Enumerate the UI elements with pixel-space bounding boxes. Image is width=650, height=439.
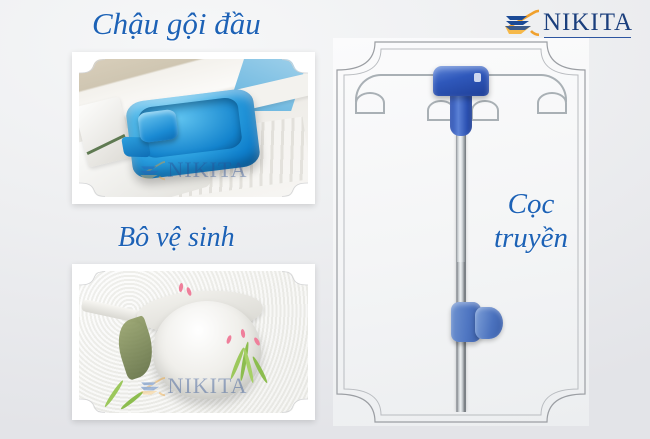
caption-pole: Cọc truyền xyxy=(476,187,586,255)
photo-bedpan: NIKITA xyxy=(79,271,308,413)
brand-wordmark: NIKITA xyxy=(543,10,633,35)
caption-pole-line2: truyền xyxy=(476,221,586,255)
brand-name-text: NIKITA xyxy=(543,9,633,36)
photo-basin: NIKITA xyxy=(79,59,308,197)
photo-frame-bedpan: NIKITA xyxy=(72,264,315,420)
nikita-swoosh-logo-icon xyxy=(503,7,539,37)
photo-frame-basin: NIKITA xyxy=(72,52,315,204)
caption-bedpan: Bô vệ sinh xyxy=(118,222,235,254)
bedpan-scene: NIKITA xyxy=(79,271,308,413)
basin-drain-plug xyxy=(137,109,178,143)
product-infographic: NIKITA Chậu gội đầu xyxy=(0,0,650,439)
basin-scene: NIKITA xyxy=(79,59,308,197)
brand-logo: NIKITA xyxy=(503,5,645,39)
caption-basin: Chậu gội đầu xyxy=(92,6,261,42)
caption-pole-line1: Cọc xyxy=(476,187,586,221)
